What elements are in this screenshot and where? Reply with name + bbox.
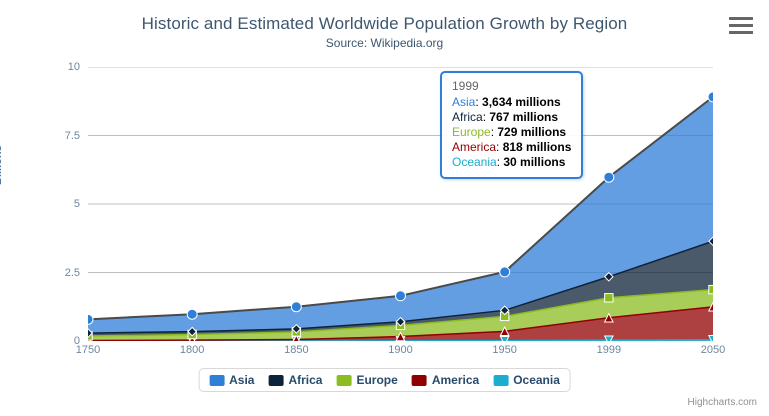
hamburger-bar-2 [729, 24, 753, 27]
x-axis-label-3: 1900 [388, 344, 412, 356]
legend-label: Europe [356, 373, 397, 387]
marker-europe-5[interactable] [605, 294, 613, 302]
y-axis-label-2: 5 [74, 198, 80, 210]
tooltip-value: 3,634 millions [482, 95, 561, 109]
x-axis-label-2: 1850 [284, 344, 308, 356]
tooltip-value: 729 millions [497, 125, 566, 139]
x-axis-label-0: 1750 [76, 344, 100, 356]
legend-item-oceania[interactable]: Oceania [493, 373, 560, 387]
chart-plot-svg [88, 67, 713, 341]
tooltip-value: 30 millions [503, 155, 565, 169]
y-axis-labels: 02.557.510 [42, 67, 80, 341]
legend-swatch-asia [209, 375, 224, 386]
legend-swatch-oceania [493, 375, 508, 386]
marker-asia-4[interactable] [500, 267, 510, 277]
legend-swatch-africa [268, 375, 283, 386]
hamburger-menu-icon[interactable] [729, 17, 753, 35]
tooltip-rows: Asia: 3,634 millionsAfrica: 767 millions… [452, 95, 571, 170]
chart-subtitle: Source: Wikipedia.org [0, 36, 769, 50]
y-axis-title: Billions [0, 145, 4, 185]
tooltip-value: 767 millions [489, 110, 558, 124]
y-axis-label-3: 7.5 [65, 130, 80, 142]
plot-area [88, 67, 713, 341]
x-axis-label-4: 1950 [492, 344, 516, 356]
x-axis-label-5: 1999 [597, 344, 621, 356]
marker-europe-6[interactable] [709, 285, 713, 293]
x-axis-labels: 1750180018501900195019992050 [88, 344, 713, 364]
tooltip-series-name: America [452, 140, 496, 154]
tooltip: 1999 Asia: 3,634 millionsAfrica: 767 mil… [440, 71, 583, 179]
legend-label: America [432, 373, 479, 387]
tooltip-series-name: Asia [452, 95, 475, 109]
legend-label: Africa [288, 373, 322, 387]
tooltip-row-oceania: Oceania: 30 millions [452, 155, 571, 170]
marker-asia-2[interactable] [291, 302, 301, 312]
credits-label: Highcharts.com [688, 397, 757, 408]
legend: AsiaAfricaEuropeAmericaOceania [198, 368, 571, 392]
tooltip-series-name: Oceania [452, 155, 497, 169]
tooltip-row-asia: Asia: 3,634 millions [452, 95, 571, 110]
tooltip-row-america: America: 818 millions [452, 140, 571, 155]
highcharts-container: Historic and Estimated Worldwide Populat… [0, 0, 769, 416]
y-axis-label-4: 10 [68, 61, 80, 73]
hamburger-bar-3 [729, 31, 753, 34]
legend-item-asia[interactable]: Asia [209, 373, 254, 387]
y-axis-label-1: 2.5 [65, 267, 80, 279]
legend-item-america[interactable]: America [412, 373, 479, 387]
tooltip-separator: : [496, 140, 503, 154]
legend-item-europe[interactable]: Europe [336, 373, 397, 387]
tooltip-series-name: Europe [452, 125, 491, 139]
x-axis-label-1: 1800 [180, 344, 204, 356]
x-axis-label-6: 2050 [701, 344, 725, 356]
hamburger-bar-1 [729, 17, 753, 20]
legend-label: Asia [229, 373, 254, 387]
tooltip-separator: : [475, 95, 482, 109]
chart-title: Historic and Estimated Worldwide Populat… [0, 14, 769, 34]
tooltip-row-europe: Europe: 729 millions [452, 125, 571, 140]
legend-swatch-america [412, 375, 427, 386]
marker-asia-3[interactable] [396, 291, 406, 301]
tooltip-value: 818 millions [503, 140, 572, 154]
legend-label: Oceania [513, 373, 560, 387]
legend-item-africa[interactable]: Africa [268, 373, 322, 387]
marker-asia-5[interactable] [604, 172, 614, 182]
tooltip-series-name: Africa [452, 110, 483, 124]
marker-asia-1[interactable] [187, 309, 197, 319]
tooltip-header: 1999 [452, 79, 571, 93]
legend-swatch-europe [336, 375, 351, 386]
tooltip-row-africa: Africa: 767 millions [452, 110, 571, 125]
